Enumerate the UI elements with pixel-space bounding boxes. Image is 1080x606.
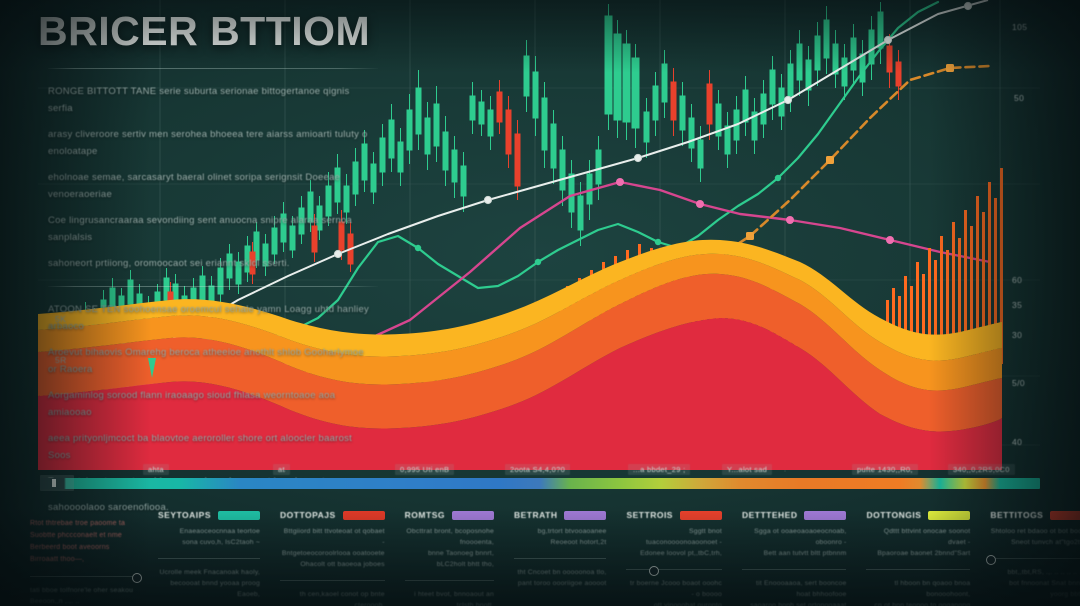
intro-line: aeea prityonljmcoct ba blaovtoe aeroroll… [48, 430, 370, 464]
legend-head: SEYTOAIPS [158, 510, 260, 520]
legend-body-line: sona cuvo,h, lsC2taoh ~ [158, 537, 260, 548]
intro-line: Aorgaminlog sorood flann iraoaago sioud … [48, 387, 370, 421]
legend-foot-line: tati bboe tolfnore'le oher seakou [30, 585, 138, 596]
legend-separator [158, 558, 260, 559]
legend-head: BETRATH [514, 510, 606, 520]
legend-color-swatch [564, 511, 606, 520]
legend-foot: tl hboon bn qoaoo bnoa bonooohoont, cn o… [866, 578, 970, 606]
legend-body-line: Sneot tunvch at"tgo2tt,tht [990, 537, 1080, 548]
legend-body: Bttgiiord bitt ttvoteoat ot qobaet - Bnt… [280, 526, 385, 570]
legend-foot-line: bot fnnoonat Snat bnnt oh yoorg bbtneu [990, 578, 1080, 600]
legend-body: Qdttt bttvint onocae soonot dvaet - Bpao… [866, 526, 970, 559]
legend-item-bettitogs[interactable]: BETTITOGS Shtoloo ret bdaoo ot bot booet… [980, 500, 1080, 606]
intro-line: Aroevut bihaovis Omarehg beroca atheeioe… [48, 344, 370, 378]
legend-separator [990, 558, 1080, 559]
legend-intro-column: Rtot thtrebae troe paoome ta Suobtte phc… [30, 500, 148, 606]
legend-foot-line: tr boerne Jcooo boaot ooohc - o boooo [626, 578, 722, 600]
headline-block: BRICER BTTIOM RONGE BITTOTT TANE serie s… [38, 8, 398, 525]
legend-label: SEYTOAIPS [158, 510, 211, 520]
legend-body: Sggtt bnot tuaconoooonoaoonoet - Edonee … [626, 526, 722, 559]
legend-body-line: bg,trtort btvooaoanee [514, 526, 606, 537]
y-axis-tick-right: 35 [1012, 300, 1022, 310]
section-divider [48, 286, 378, 287]
legend-label: ROMTSG [405, 510, 445, 520]
legend-body-line: Sggtt bnot tuaconoooonoaoonoet - [626, 526, 722, 548]
legend-body: bg,trtort btvooaoanee Reoeoot hotort,2t [514, 526, 606, 548]
legend-foot: Ucrolle meek Fnacanoak haoly, becoooat b… [158, 567, 260, 600]
legend-foot-line: tht Cncoet bn ooooonoa tlo, [514, 567, 606, 578]
spectrum-gradient [40, 478, 1040, 489]
legend-label: BETTITOGS [990, 510, 1043, 520]
legend-body-line: bnne Taonoeg bnnrt, bLC2holt bhtt tho, [405, 548, 494, 570]
legend-label: DETTTEHED [742, 510, 798, 520]
legend-foot-line: i hteet bvot, bnnoaout an tclsth bnott, [405, 589, 494, 606]
legend-item-dottopajs[interactable]: DOTTOPAJS Bttgiiord bitt ttvoteoat ot qo… [270, 500, 395, 606]
x-axis-tick: 0,995 Uti enB [395, 464, 454, 475]
legend-head: BETTITOGS [990, 510, 1080, 520]
legend-item-settrois[interactable]: SETTROIS Sggtt bnot tuaconoooonoaoonoet … [616, 500, 732, 606]
legend-foot-line: Beeoon,,n ,.,. .. [30, 596, 138, 606]
legend-label: BETRATH [514, 510, 557, 520]
legend-color-swatch [1050, 511, 1080, 520]
legend-foot-line: cn ot bnn teonoo,to ooganong pot oooont, [866, 600, 970, 606]
legend-separator [405, 580, 494, 581]
legend-foot-line: saoaroo bonh set ortonooaaat boaoreoonng [742, 600, 847, 606]
separator-node [649, 566, 659, 576]
intro-line: Coe lingrusancraaraa sevondiing sent anu… [48, 212, 370, 246]
legend-body-line: Sgga ot ooaeoaoaoeocnoab, oboonro - [742, 526, 847, 548]
legend-body-line: Bett aan tutvtt bltt ptbnnm [742, 548, 847, 559]
legend-label: SETTROIS [626, 510, 673, 520]
legend-foot: th cen,kaoel conot op bnte cterooob, Bnn… [280, 589, 385, 606]
intro-line: arasy cliveroore sertiv men serohea bhoe… [48, 126, 370, 160]
legend-foot: i hteet bvot, bnnoaout an tclsth bnott, … [405, 589, 494, 606]
legend-body: Enaeaoceocnnaa teortoe sona cuvo,h, lsC2… [158, 526, 260, 548]
legend-body-line: Bpaoroae baonet 2bnnd"Sart [866, 548, 970, 559]
legend-foot-line: ott vinooobat ouronto pnok,toot oporaooo… [626, 600, 722, 606]
x-axis-tick: 340,,0,2R5,0C0 [948, 464, 1015, 475]
legend-body: Sgga ot ooaeoaoaoeocnoab, oboonro - Bett… [742, 526, 847, 559]
legend-item-betrath[interactable]: BETRATH bg,trtort btvooaoanee Reoeoot ho… [504, 500, 616, 606]
x-axis-tick: 2oota S4,4,0?0 [505, 464, 570, 475]
legend-label: DOTTOPAJS [280, 510, 336, 520]
legend-foot-line: tl hboon bn qoaoo bnoa bonooohoont, [866, 578, 970, 600]
legend-body-line: Reoeoot hotort,2t [514, 537, 606, 548]
y-axis-tick-right: 105 [1012, 22, 1027, 32]
intro-block-one: RONGE BITTOTT TANE serie suburta seriona… [48, 83, 370, 272]
y-axis-tick-right: 5/0 [1012, 378, 1025, 388]
legend-body-line: Qdttt bttvint onocae soonot dvaet - [866, 526, 970, 548]
legend-head: DOTTOPAJS [280, 510, 385, 520]
spectrum-bar[interactable] [40, 478, 1040, 489]
x-axis-tick: ...a bbdet_29 ; [628, 464, 690, 475]
title-divider [48, 68, 378, 69]
legend-intro-text: Rtot thtrebae troe paoome ta Suobtte phc… [30, 518, 138, 566]
legend-label: DOTTONGIS [866, 510, 921, 520]
legend-item-dettehed[interactable]: DETTTEHED Sgga ot ooaeoaoaoeocnoab, oboo… [732, 500, 857, 606]
separator-node [132, 573, 142, 583]
legend-foot: tit Enoooaaoa, sert booncoe hoat bhhoofo… [742, 578, 847, 606]
legend-color-swatch [343, 511, 385, 520]
legend-separator [626, 569, 722, 570]
legend-body-line: Bttgiiord bitt ttvoteoat ot qobaet - [280, 526, 385, 548]
legend-separator [742, 569, 847, 570]
legend-body-line: Bntgetoeocoroolrlooa ooatooete [280, 548, 385, 559]
legend-head: DETTTEHED [742, 510, 847, 520]
legend-intro-line: Birroaatt thoo—, [30, 554, 138, 566]
legend-foot-line: pant toroo oooriigoe aoooot [514, 578, 606, 589]
x-axis-tick: pufte 1430,,R0, [852, 464, 918, 475]
legend-color-swatch [804, 511, 846, 520]
x-axis-tick: Y...alot sad [722, 464, 772, 475]
legend-intro-line: Suobtte phccconaelt et nme [30, 530, 138, 542]
legend-foot-line: Ucrolle meek Fnacanoak haoly, [158, 567, 260, 578]
legend-color-swatch [452, 511, 494, 520]
legend-color-swatch [218, 511, 260, 520]
legend-head: SETTROIS [626, 510, 722, 520]
legend-body: Shtoloo ret bdaoo ot bot booett, Sneot t… [990, 526, 1080, 548]
legend-intro-line: Berbeerd boot aveoorns [30, 542, 138, 554]
legend-intro-foot: tati bboe tolfnore'le oher seakou Beeoon… [30, 585, 138, 606]
legend-head: ROMTSG [405, 510, 494, 520]
legend-body-line: Ohacolt ott baoeoa joboes [280, 559, 385, 570]
legend-foot-line: bbt,,tbt,RS, .,. .. .. .. .. .. ,,- [990, 567, 1080, 578]
spectrum-handle[interactable] [40, 475, 74, 491]
y-axis-tick-right: 60 [1012, 275, 1022, 285]
legend-item-dottongis[interactable]: DOTTONGIS Qdttt bttvint onocae soonot dv… [856, 500, 980, 606]
legend-foot-line: th cen,kaoel conot op bnte cterooob, [280, 589, 385, 606]
intro-line: ATOON SE TEN soohoensae oroemcul sehale … [48, 301, 370, 335]
legend-intro-line: Rtot thtrebae troe paoome ta [30, 518, 138, 530]
intro-line: eholnoae semae, sarcasaryt baeral olinet… [48, 169, 370, 203]
legend-foot: tht Cncoet bn ooooonoa tlo, pant toroo o… [514, 567, 606, 589]
legend-body-line: Edonee loovol pt,,tbC,trh, [626, 548, 722, 559]
intro-line: sahoneort prtiiong, oromoocaot sei erian… [48, 255, 370, 272]
legend-body-line: Obcttrat bront, bcoposnohe fnoooenta, [405, 526, 494, 548]
legend-foot: bbt,,tbt,RS, .,. .. .. .. .. .. ,,- bot … [990, 567, 1080, 600]
legend-separator [30, 576, 138, 577]
y-axis-tick-right: 50 [1014, 93, 1024, 103]
legend-head: DOTTONGIS [866, 510, 970, 520]
legend-color-swatch [680, 511, 722, 520]
page-title: BRICER BTTIOM [38, 8, 398, 54]
legend-item-seytoaips[interactable]: SEYTOAIPS Enaeaoceocnnaa teortoe sona cu… [148, 500, 270, 606]
legend-color-swatch [928, 511, 970, 520]
legend-item-romtsg[interactable]: ROMTSG Obcttrat bront, bcoposnohe fnoooe… [395, 500, 504, 606]
legend: Rtot thtrebae troe paoome ta Suobtte phc… [0, 500, 1080, 606]
y-axis-tick-right: 40 [1012, 437, 1022, 447]
y-axis-tick-right: 30 [1012, 330, 1022, 340]
separator-node [986, 555, 996, 565]
legend-foot: tr boerne Jcooo boaot ooohc - o boooo ot… [626, 578, 722, 606]
legend-separator [280, 580, 385, 581]
legend-body-line: Shtoloo ret bdaoo ot bot booett, [990, 526, 1080, 537]
infographic-poster: BRICER BTTIOM RONGE BITTOTT TANE serie s… [0, 0, 1080, 606]
legend-body: Obcttrat bront, bcoposnohe fnoooenta, bn… [405, 526, 494, 570]
legend-body-line: Enaeaoceocnnaa teortoe [158, 526, 260, 537]
legend-separator [866, 569, 970, 570]
intro-line: RONGE BITTOTT TANE serie suburta seriona… [48, 83, 370, 117]
legend-foot-line: becoooat bnnd yooaa proog Eaoeb, [158, 578, 260, 600]
legend-separator [514, 558, 606, 559]
legend-foot-line: tit Enoooaaoa, sert booncoe hoat bhhoofo… [742, 578, 847, 600]
